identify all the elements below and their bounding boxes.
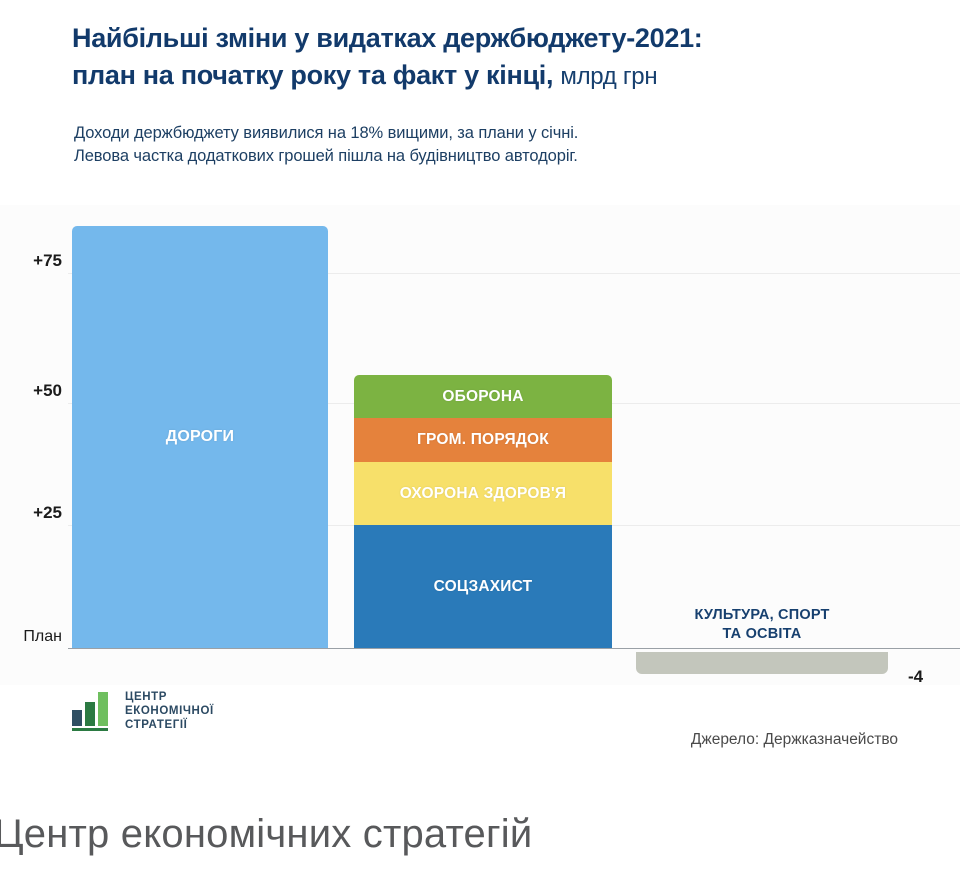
title-unit: млрд грн bbox=[560, 63, 657, 90]
subtitle-line-2: Левова частка додаткових грошей пішла на… bbox=[74, 147, 578, 165]
bar-segment-public-order-label: ГРОМ. ПОРЯДОК bbox=[417, 431, 549, 449]
bottom-caption: Центр економічних стратегій bbox=[0, 812, 954, 857]
bar-roads-label-wrap: ДОРОГИ bbox=[72, 226, 328, 648]
bar-segment-health-label: ОХОРОНА ЗДОРОВ'Я bbox=[400, 485, 567, 503]
bar-roads[interactable]: ДОРОГИ bbox=[72, 226, 328, 648]
ces-logo[interactable]: ЦЕНТР ЕКОНОМІЧНОЇ СТРАТЕГІЇ bbox=[70, 690, 214, 732]
bar-segment-social[interactable]: СОЦЗАХИСТ bbox=[354, 525, 612, 648]
plot-region: +75 +50 +25 План ДОРОГИ ОБОРОНА ГРОМ. ПО… bbox=[0, 205, 960, 685]
bar-negative-value: -4 bbox=[908, 667, 923, 687]
ytick-label-50: +50 bbox=[0, 381, 62, 401]
bar-negative-label-line-1: КУЛЬТУРА, СПОРТ bbox=[694, 607, 829, 623]
ytick-label-plan: План bbox=[0, 628, 62, 646]
bar-roads-label: ДОРОГИ bbox=[166, 428, 235, 446]
axis-baseline bbox=[68, 648, 960, 649]
bar-negative-label-line-2: ТА ОСВІТА bbox=[723, 626, 802, 642]
chart-footer: ЦЕНТР ЕКОНОМІЧНОЇ СТРАТЕГІЇ Джерело: Дер… bbox=[0, 685, 960, 775]
title-line-1: Найбільші зміни у видатках держбюджету-2… bbox=[72, 23, 702, 53]
title-line-2: план на початку року та факт у кінці, bbox=[72, 60, 553, 90]
ytick-label-25: +25 bbox=[0, 503, 62, 523]
bar-segment-social-label: СОЦЗАХИСТ bbox=[434, 578, 533, 596]
bar-segment-health[interactable]: ОХОРОНА ЗДОРОВ'Я bbox=[354, 462, 612, 525]
bar-culture-sport-education[interactable] bbox=[636, 652, 888, 674]
bar-segment-defence[interactable]: ОБОРОНА bbox=[354, 375, 612, 418]
subtitle-line-1: Доходи держбюджету виявилися на 18% вищи… bbox=[74, 124, 578, 142]
chart-area: +75 +50 +25 План ДОРОГИ ОБОРОНА ГРОМ. ПО… bbox=[0, 205, 960, 685]
ces-logo-line-3: СТРАТЕГІЇ bbox=[125, 719, 187, 731]
ces-logo-text: ЦЕНТР ЕКОНОМІЧНОЇ СТРАТЕГІЇ bbox=[125, 690, 214, 732]
bar-segment-defence-label: ОБОРОНА bbox=[442, 388, 523, 406]
bar-stacked-group[interactable]: ОБОРОНА ГРОМ. ПОРЯДОК ОХОРОНА ЗДОРОВ'Я С… bbox=[354, 375, 612, 648]
chart-subtitle: Доходи держбюджету виявилися на 18% вищи… bbox=[74, 122, 904, 168]
bar-negative-label: КУЛЬТУРА, СПОРТ ТА ОСВІТА bbox=[636, 606, 888, 644]
ces-logo-line-1: ЦЕНТР bbox=[125, 691, 167, 703]
chart-header: Найбільші зміни у видатках держбюджету-2… bbox=[0, 0, 960, 200]
ces-logo-line-2: ЕКОНОМІЧНОЇ bbox=[125, 705, 214, 717]
bar-chart-logo-icon bbox=[70, 690, 116, 732]
bar-segment-public-order[interactable]: ГРОМ. ПОРЯДОК bbox=[354, 418, 612, 462]
page-title: Найбільші зміни у видатках держбюджету-2… bbox=[72, 20, 902, 95]
chart-source: Джерело: Держказначейство bbox=[691, 731, 898, 749]
ytick-label-75: +75 bbox=[0, 251, 62, 271]
